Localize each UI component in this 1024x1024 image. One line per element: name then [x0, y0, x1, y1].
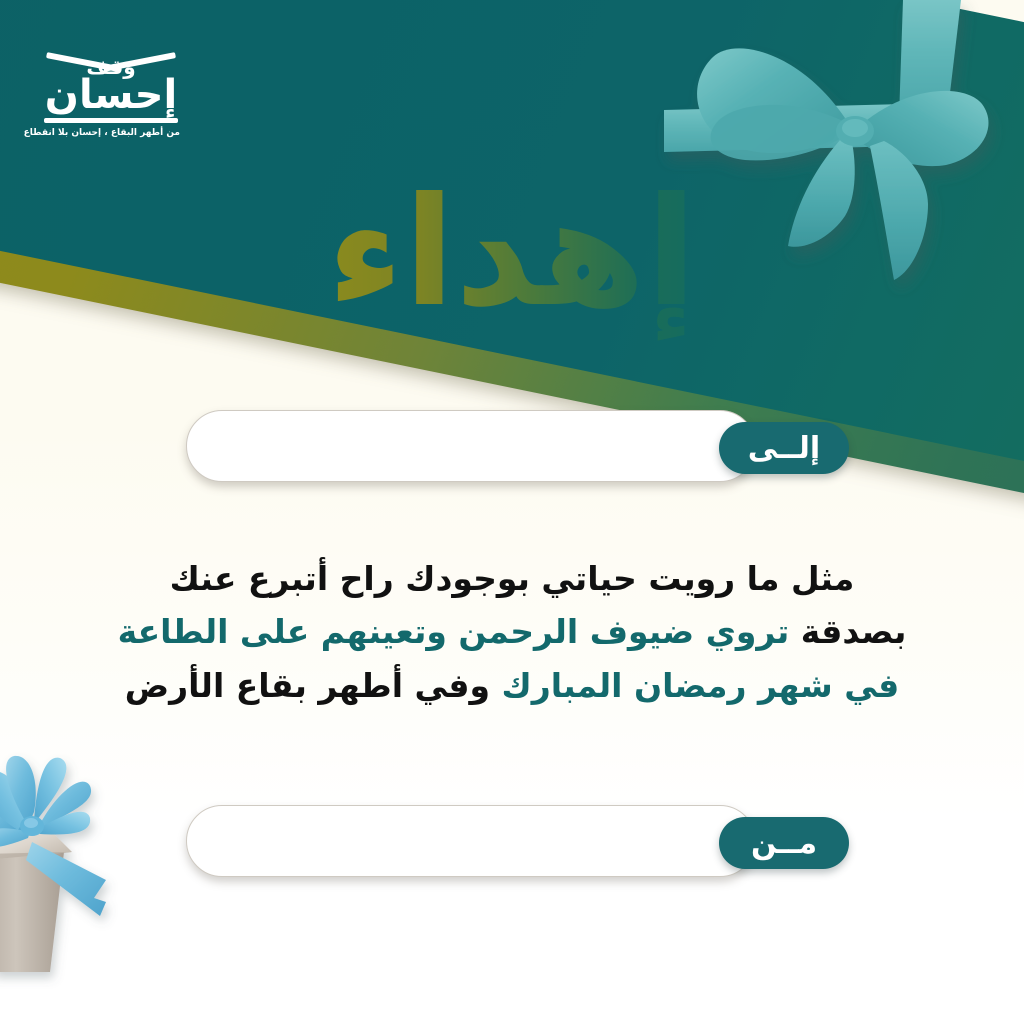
message-line-2-accent: تروي ضيوف الرحمن وتعينهم على الطاعة [118, 612, 790, 651]
brand-logo: وقف إحسان من أطهر البقاع ، إحسان بلا انق… [42, 34, 180, 138]
dedication-message: مثل ما رويت حياتي بوجودك راح أتبرع عنك ب… [0, 552, 1024, 712]
message-line-3-black: وفي أطهر بقاع الأرض [125, 666, 490, 705]
recipient-input[interactable] [186, 410, 756, 482]
message-line-2-black: بصدقة [801, 612, 907, 651]
message-line-1: مثل ما رويت حياتي بوجودك راح أتبرع عنك [0, 552, 1024, 605]
recipient-label-pill: إلــى [719, 422, 849, 474]
message-line-3-accent: في شهر رمضان المبارك [502, 666, 900, 705]
logo-underline-rule [44, 118, 178, 123]
page-title: إهداء [0, 160, 1024, 366]
field-row-from: مــن [0, 795, 1024, 891]
logo-tagline: من أطهر البقاع ، إحسان بلا انقطاع [42, 128, 180, 138]
sender-input[interactable] [186, 805, 756, 877]
sender-label-pill: مــن [719, 817, 849, 869]
title-ihdaa: إهداء [303, 160, 721, 366]
message-line-3: في شهر رمضان المبارك وفي أطهر بقاع الأرض [0, 659, 1024, 712]
message-line-2: بصدقة تروي ضيوف الرحمن وتعينهم على الطاع… [0, 605, 1024, 658]
gift-dedication-card: وقف إحسان من أطهر البقاع ، إحسان بلا انق… [0, 0, 1024, 1024]
logo-roof-icon [46, 34, 176, 60]
field-row-to: إلــى [0, 400, 1024, 496]
logo-word-ihsan: إحسان [42, 74, 180, 116]
